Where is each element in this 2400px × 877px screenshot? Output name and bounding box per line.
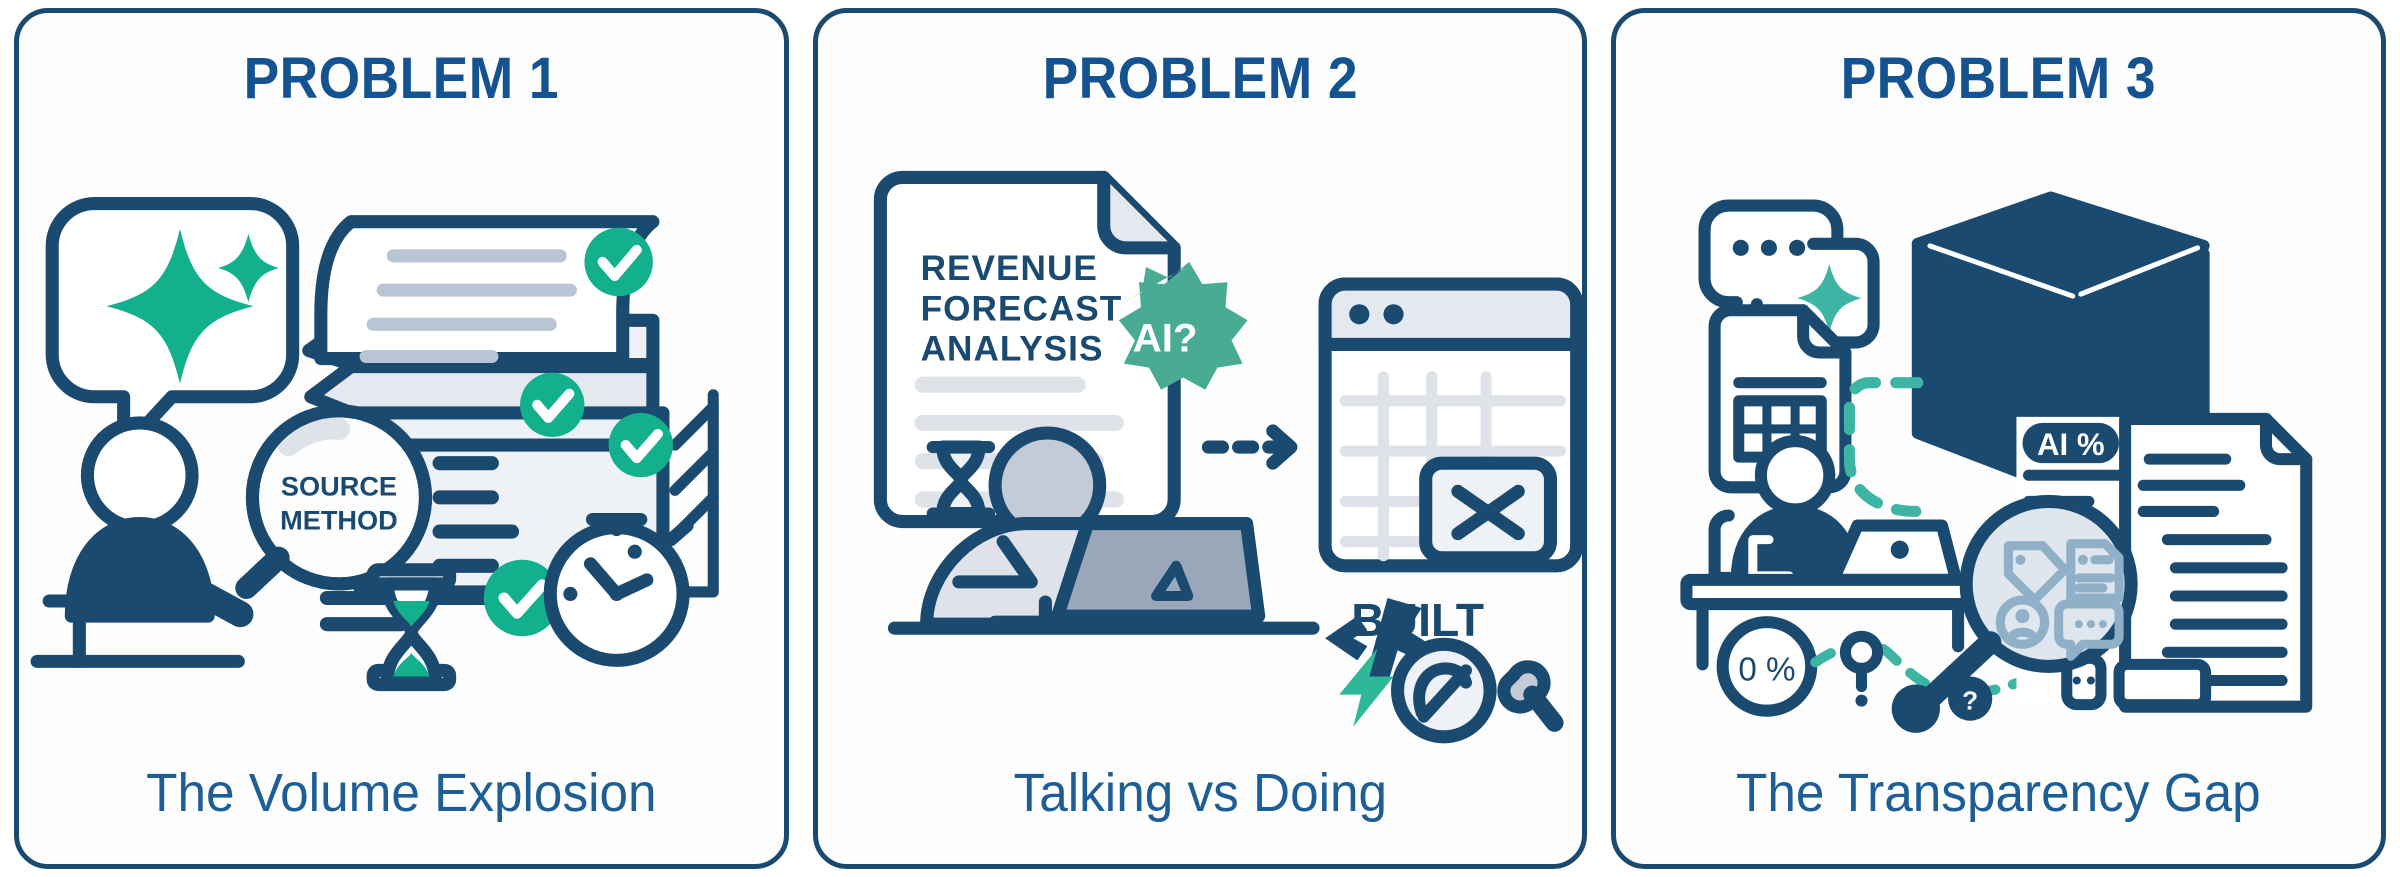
- person-icon: [37, 423, 240, 661]
- svg-text:?: ?: [1991, 356, 2018, 405]
- panel-problem-2: PROBLEM 2: [813, 8, 1588, 869]
- clock-icon: [550, 520, 687, 661]
- panel-3-title: PROBLEM 3: [1647, 45, 2350, 112]
- panel-3-caption: The Transparency Gap: [1635, 762, 2361, 824]
- check-badge-icon: [584, 228, 652, 296]
- problem-panels-board: PROBLEM 1: [0, 0, 2400, 877]
- question-node-icon: [1846, 636, 1878, 706]
- ai-percent-badge-label: AI %: [2037, 427, 2105, 462]
- error-x-icon: [1425, 463, 1550, 558]
- question-badge-label: ?: [1963, 686, 1979, 716]
- no-entry-icon: [1397, 644, 1490, 737]
- panel-1-caption: The Volume Explosion: [38, 762, 764, 824]
- dashed-connector: [1850, 383, 1918, 512]
- panel-3-illustration: ? ?: [1616, 112, 2381, 758]
- panel-2-caption: Talking vs Doing: [837, 762, 1563, 824]
- panel-problem-1: PROBLEM 1: [14, 8, 789, 869]
- panel-problem-3: PROBLEM 3: [1611, 8, 2386, 869]
- ai-badge-label: AI?: [1132, 315, 1197, 360]
- panel-2-illustration: REVENUE FORECAST ANALYSIS AI?: [818, 112, 1583, 758]
- panel-1-title: PROBLEM 1: [50, 45, 753, 112]
- document-title-line-2: FORECAST: [920, 289, 1122, 328]
- panel-2-title: PROBLEM 2: [848, 45, 1551, 112]
- check-badge-icon: [520, 373, 584, 437]
- document-title-line-1: REVENUE: [920, 249, 1097, 288]
- check-badge-icon: [609, 413, 673, 477]
- built-label: BUILT: [1351, 594, 1484, 646]
- gavel-icon: [1504, 667, 1555, 723]
- zero-percent-badge-label: 0 %: [1739, 651, 1796, 688]
- panel-1-illustration: SOURCE METHOD: [19, 112, 784, 758]
- document-title-line-3: ANALYSIS: [920, 330, 1103, 369]
- svg-text:?: ?: [1928, 393, 1964, 458]
- arrow-right-icon: [1208, 431, 1291, 463]
- magnifier-label-line-2: METHOD: [280, 505, 398, 536]
- magnifier-label-line-1: SOURCE: [281, 470, 397, 501]
